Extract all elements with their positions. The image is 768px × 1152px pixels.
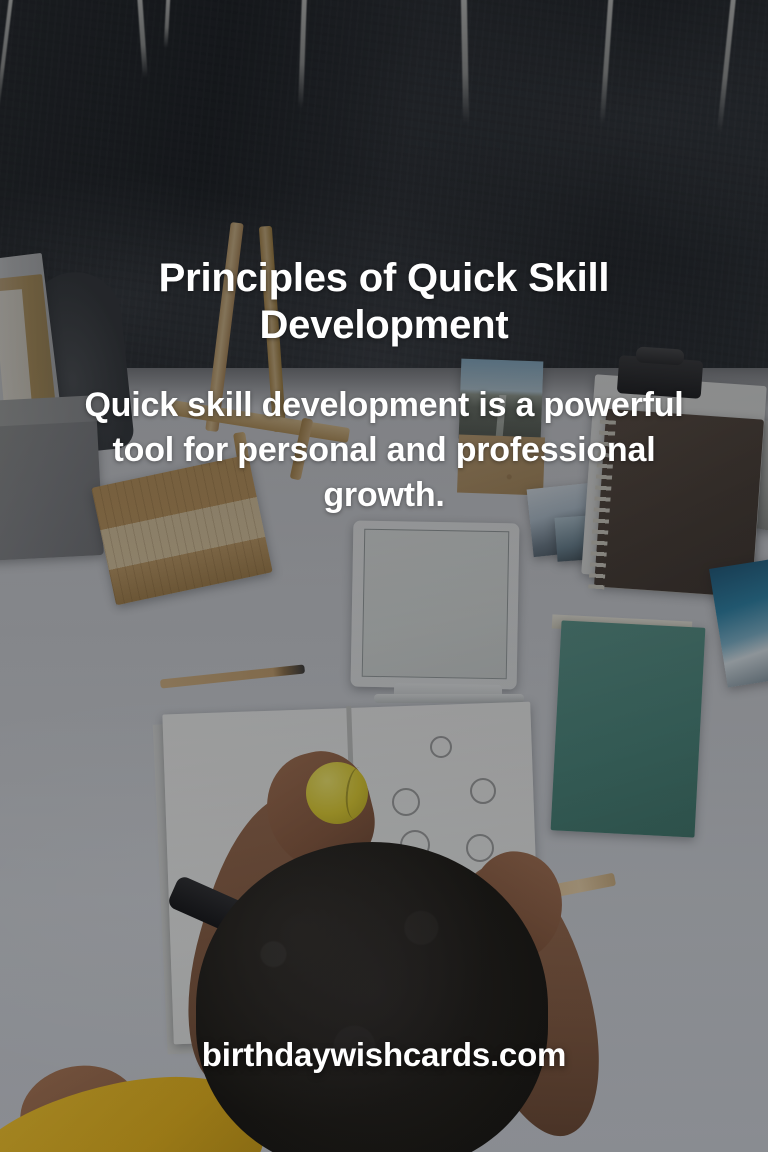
page-subtitle: Quick skill development is a powerful to… — [64, 383, 704, 519]
site-url-footer: birthdaywishcards.com — [0, 1036, 768, 1074]
text-layer: Principles of Quick Skill Development Qu… — [0, 0, 768, 1152]
pinterest-pin-card: Principles of Quick Skill Development Qu… — [0, 0, 768, 1152]
page-title: Principles of Quick Skill Development — [64, 255, 704, 349]
